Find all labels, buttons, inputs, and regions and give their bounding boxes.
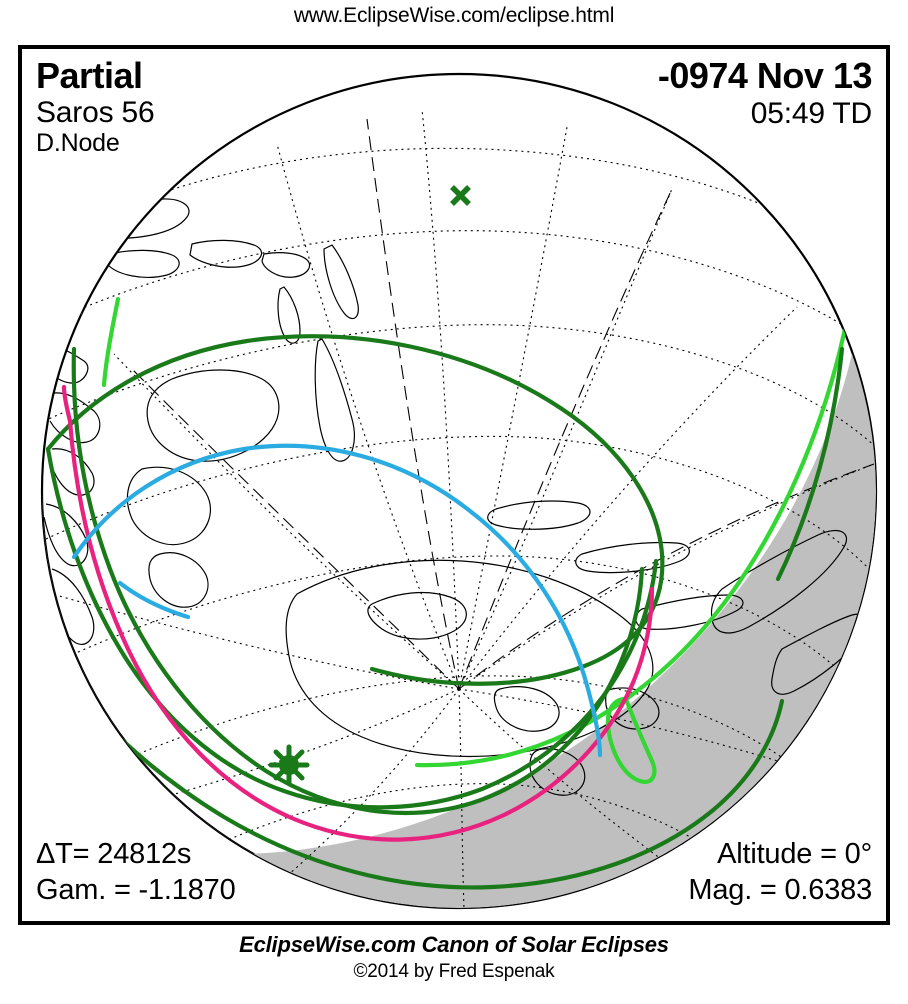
saros-label: Saros 56 (36, 97, 154, 129)
delta-t-label: ΔT= 24812s (36, 837, 236, 873)
page-footer: EclipseWise.com Canon of Solar Eclipses … (0, 932, 908, 983)
eclipse-date-label: -0974 Nov 13 (658, 57, 872, 95)
footer-copyright: ©2014 by Fred Espenak (0, 961, 908, 983)
eclipse-map-panel: Partial Saros 56 D.Node -0974 Nov 13 05:… (18, 45, 890, 925)
source-url: www.EclipseWise.com/eclipse.html (0, 4, 908, 28)
eclipse-info-top-left: Partial Saros 56 D.Node (36, 57, 154, 156)
gamma-label: Gam. = -1.1870 (36, 873, 236, 909)
eclipse-page: www.EclipseWise.com/eclipse.html (0, 0, 908, 1004)
node-label: D.Node (36, 130, 154, 157)
eclipse-info-top-right: -0974 Nov 13 05:49 TD (658, 57, 872, 130)
eclipse-type-label: Partial (36, 57, 154, 95)
eclipse-time-label: 05:49 TD (658, 98, 872, 130)
altitude-label: Altitude = 0° (688, 837, 872, 873)
eclipse-info-bottom-left: ΔT= 24812s Gam. = -1.1870 (36, 837, 236, 909)
magnitude-label: Mag. = 0.6383 (688, 873, 872, 909)
footer-title: EclipseWise.com Canon of Solar Eclipses (0, 932, 908, 958)
greatest-eclipse-star-icon (271, 747, 307, 783)
eclipse-globe-map (22, 49, 886, 921)
eclipse-info-bottom-right: Altitude = 0° Mag. = 0.6383 (688, 837, 872, 909)
